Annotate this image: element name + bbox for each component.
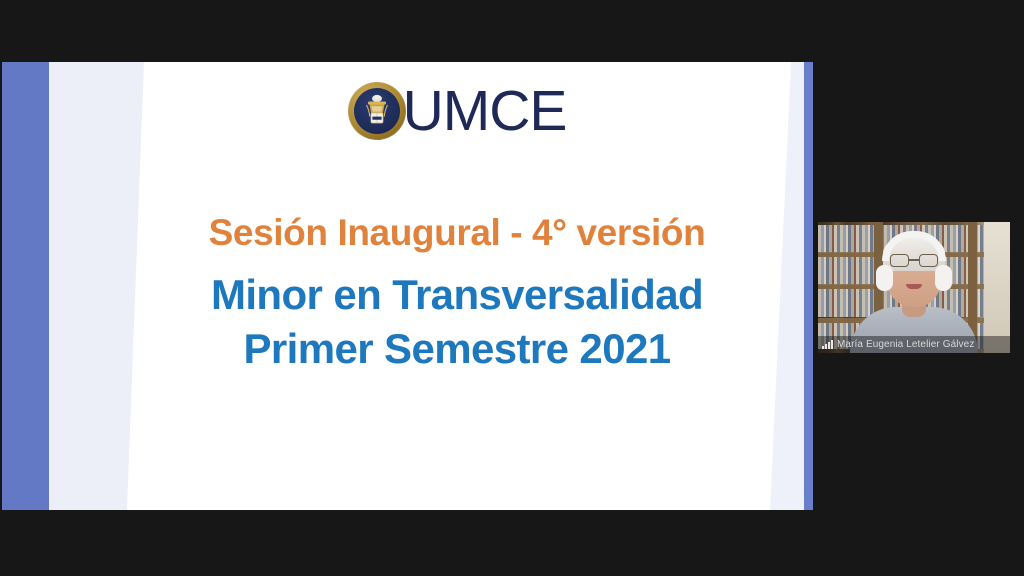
slide-title-line-1: Minor en Transversalidad — [144, 268, 770, 322]
participant-name-label: María Eugenia Letelier Gálvez — [837, 339, 974, 350]
headphones-earcup-right — [935, 265, 952, 291]
umce-seal-icon — [348, 82, 406, 140]
seal-ring — [348, 82, 406, 140]
umce-wordmark: UMCE — [403, 83, 567, 140]
participant-name-bar: María Eugenia Letelier Gálvez — [818, 336, 1010, 353]
headphones-earcup-left — [876, 265, 893, 291]
person-mouth — [906, 284, 922, 289]
participant-video-tile[interactable]: María Eugenia Letelier Gálvez — [818, 222, 1010, 353]
slide-title-line-2: Primer Semestre 2021 — [144, 322, 770, 376]
umce-logo: UMCE — [144, 82, 770, 140]
shared-presentation-slide[interactable]: UMCE Sesión Inaugural - 4° versión Minor… — [2, 62, 813, 510]
audio-level-bars-icon — [822, 340, 833, 349]
slide-content: UMCE Sesión Inaugural - 4° versión Minor… — [144, 62, 770, 510]
slide-accent-wedge-right — [770, 62, 804, 510]
slide-accent-band-right — [804, 62, 813, 510]
slide-title-block: Minor en Transversalidad Primer Semestre… — [144, 268, 770, 376]
slide-accent-band-left — [2, 62, 49, 510]
slide-accent-wedge-left — [49, 62, 144, 510]
meeting-screen: UMCE Sesión Inaugural - 4° versión Minor… — [0, 0, 1024, 576]
slide-kicker: Sesión Inaugural - 4° versión — [144, 212, 770, 255]
room-wall — [984, 222, 1010, 353]
slide-headings: Sesión Inaugural - 4° versión Minor en T… — [144, 212, 770, 375]
